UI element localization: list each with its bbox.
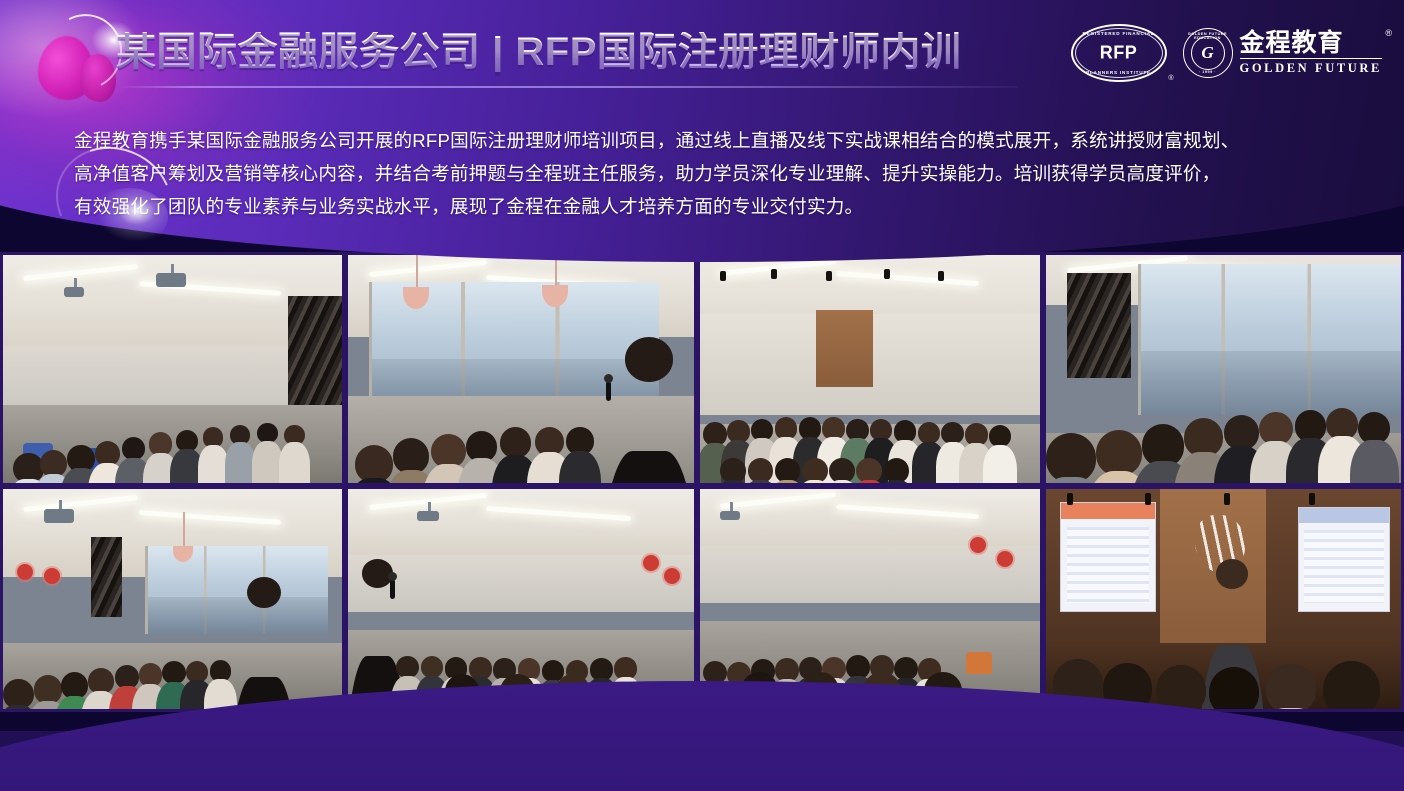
gf-arc-bottom-text: · 1999 · bbox=[1183, 70, 1233, 74]
rfp-registered-mark: ® bbox=[1168, 75, 1173, 82]
photo-gallery-grid bbox=[0, 252, 1404, 712]
photo-2-scene bbox=[348, 255, 694, 483]
page-title: 某国际金融服务公司 | RFP国际注册理财师内训 bbox=[116, 32, 961, 72]
rfp-center-text: RFP bbox=[1071, 43, 1167, 64]
golden-future-wordmark: 金程教育 ® GOLDEN FUTURE bbox=[1240, 31, 1383, 76]
photo-3-scene bbox=[700, 255, 1040, 483]
header: 某国际金融服务公司 | RFP国际注册理财师内训 REGISTERED FINA… bbox=[0, 0, 1404, 252]
gallery-photo-6[interactable] bbox=[345, 486, 697, 712]
poster-canvas: 某国际金融服务公司 | RFP国际注册理财师内训 REGISTERED FINA… bbox=[0, 0, 1404, 791]
gf-arc-top-text: GOLDEN FUTURE EDUCATION bbox=[1183, 32, 1233, 40]
intro-line-2: 高净值客户筹划及营销等核心内容，并结合考前押题与全程班主任服务，助力学员深化专业… bbox=[74, 157, 1336, 190]
gallery-photo-4[interactable] bbox=[1043, 252, 1404, 486]
photo-5-scene bbox=[3, 489, 342, 709]
gf-monogram-letter: G bbox=[1183, 43, 1233, 63]
rfp-arc-top-text: REGISTERED FINANCIAL bbox=[1071, 31, 1167, 36]
photo-6-scene bbox=[348, 489, 694, 709]
brand-logos: REGISTERED FINANCIAL RFP PLANNERS INSTIT… bbox=[1071, 24, 1383, 82]
golden-future-logo: GOLDEN FUTURE EDUCATION G · 1999 · 金程教育 … bbox=[1183, 28, 1383, 78]
gf-registered-mark: ® bbox=[1385, 29, 1393, 38]
gf-name-cn: 金程教育 ® bbox=[1240, 31, 1383, 56]
intro-paragraph: 金程教育携手某国际金融服务公司开展的RFP国际注册理财师培训项目，通过线上直播及… bbox=[74, 124, 1336, 223]
rfp-arc-bottom-text: PLANNERS INSTITUTE bbox=[1071, 70, 1167, 75]
golden-future-seal-icon: GOLDEN FUTURE EDUCATION G · 1999 · bbox=[1183, 28, 1233, 78]
intro-line-1: 金程教育携手某国际金融服务公司开展的RFP国际注册理财师培训项目，通过线上直播及… bbox=[74, 124, 1336, 157]
photo-8-scene bbox=[1046, 489, 1401, 709]
gallery-photo-1[interactable] bbox=[0, 252, 345, 486]
rfp-seal-logo-icon: REGISTERED FINANCIAL RFP PLANNERS INSTIT… bbox=[1071, 24, 1167, 82]
photo-4-scene bbox=[1046, 255, 1401, 483]
intro-line-3: 有效强化了团队的专业素养与业务实战水平，展现了金程在金融人才培养方面的专业交付实… bbox=[74, 190, 1336, 223]
gf-name-cn-text: 金程教育 bbox=[1240, 29, 1344, 57]
gallery-photo-7[interactable] bbox=[697, 486, 1043, 712]
photo-1-scene bbox=[3, 255, 342, 483]
gallery-photo-3[interactable] bbox=[697, 252, 1043, 486]
gallery-photo-8[interactable] bbox=[1043, 486, 1404, 712]
gallery-photo-5[interactable] bbox=[0, 486, 345, 712]
photo-7-scene bbox=[700, 489, 1040, 709]
gallery-photo-2[interactable] bbox=[345, 252, 697, 486]
gf-name-en: GOLDEN FUTURE bbox=[1240, 58, 1383, 76]
title-underline-rule bbox=[118, 86, 1018, 88]
